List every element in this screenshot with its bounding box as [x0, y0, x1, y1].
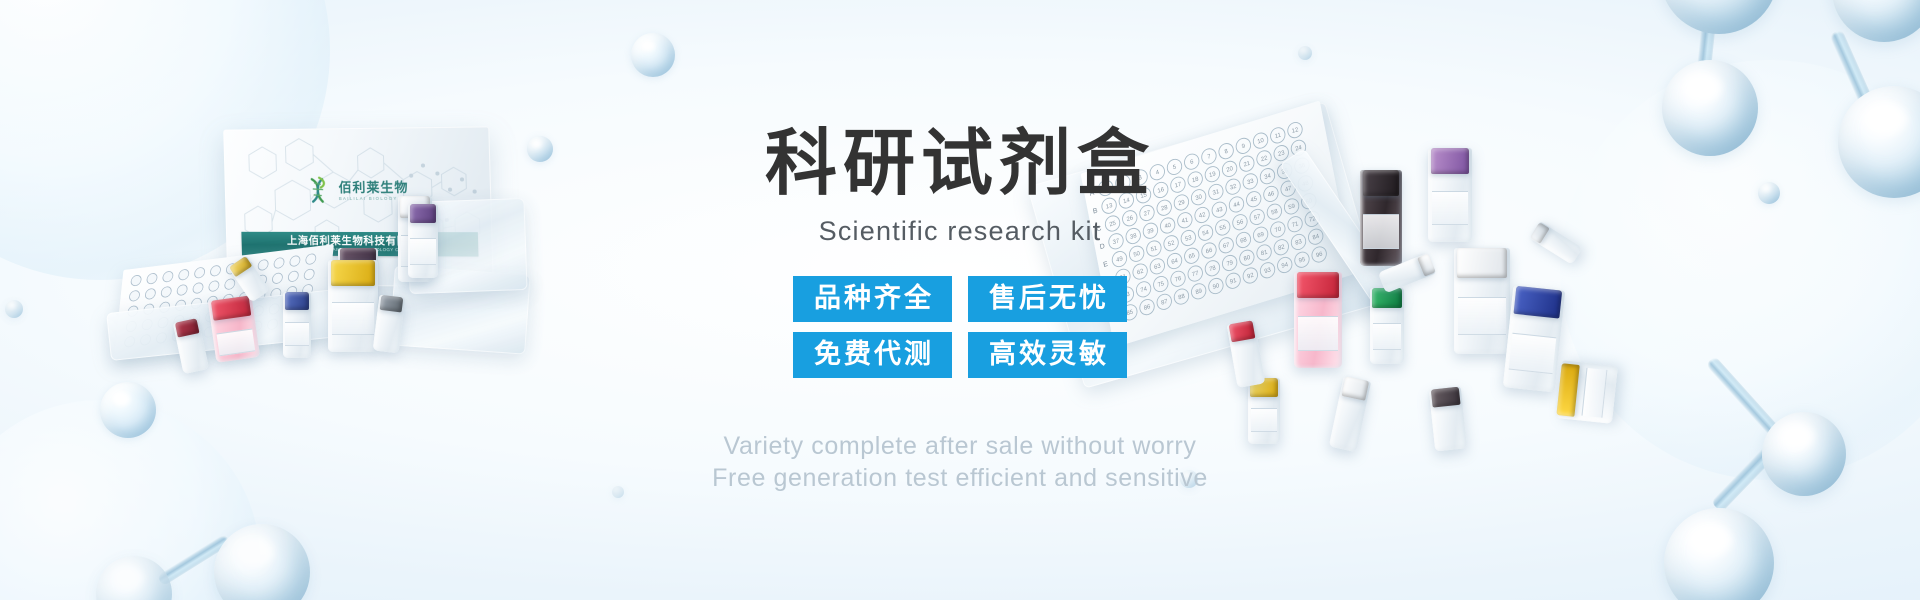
page-subtitle: Scientific research kit	[819, 216, 1102, 247]
badge-variety-complete[interactable]: 品种齐全	[793, 276, 952, 322]
tagline: Variety complete after sale without worr…	[712, 430, 1208, 494]
badge-free-test[interactable]: 免费代测	[793, 332, 952, 378]
feature-badges: 品种齐全 售后无忧 免费代测 高效灵敏	[793, 276, 1127, 378]
badge-after-sale[interactable]: 售后无忧	[968, 276, 1127, 322]
tagline-line-2: Free generation test efficient and sensi…	[712, 462, 1208, 494]
page-title: 科研试剂盒	[765, 104, 1155, 209]
banner-content: 科研试剂盒 Scientific research kit 品种齐全 售后无忧 …	[0, 0, 1920, 600]
badge-efficient-sensitive[interactable]: 高效灵敏	[968, 332, 1127, 378]
tagline-line-1: Variety complete after sale without worr…	[712, 430, 1208, 462]
banner: 佰利莱生物 BAILILAI BIOLOGY 上海佰利莱生物科技有限公司 SHA…	[0, 0, 1920, 600]
